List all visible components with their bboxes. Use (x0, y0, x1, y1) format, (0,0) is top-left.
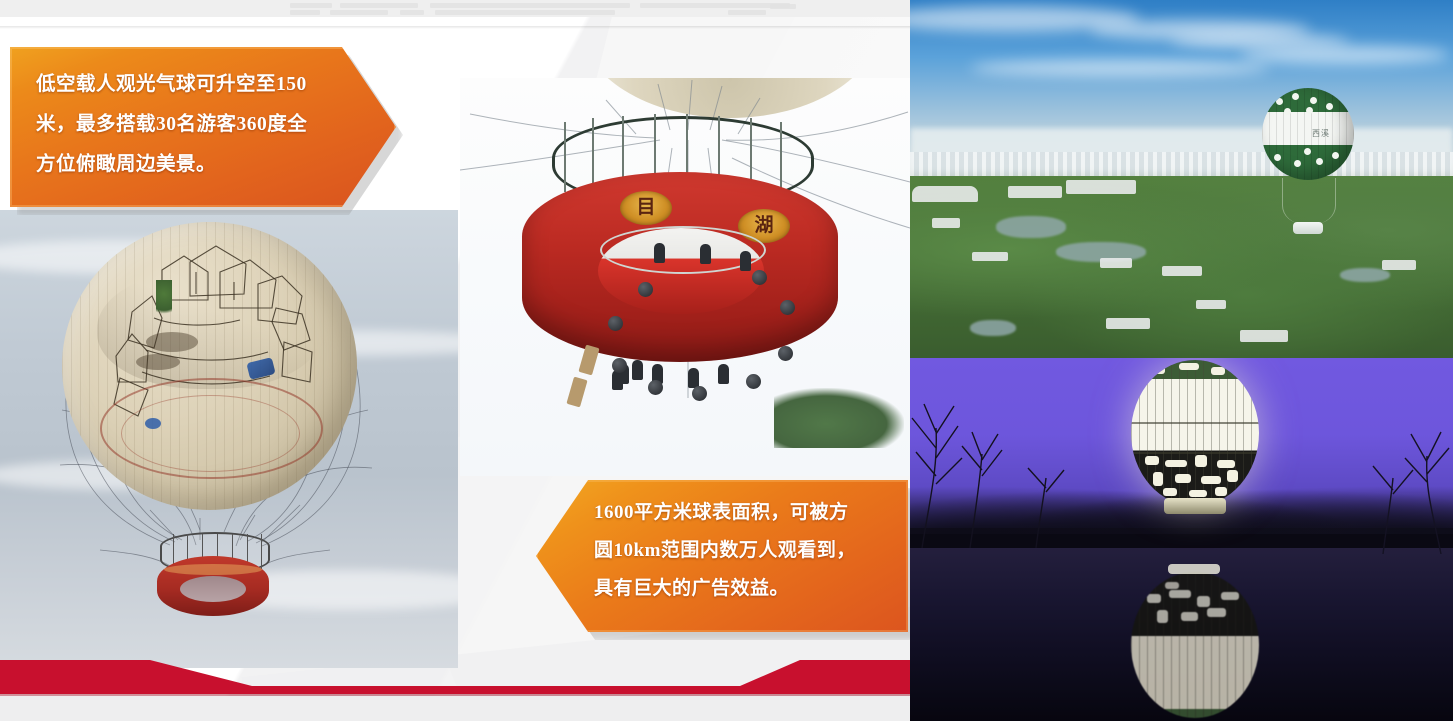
night-reflection-basket (1168, 564, 1220, 574)
aerial-balloon-gondola (1293, 222, 1323, 234)
slide-root: 目 湖 (0, 0, 1453, 721)
callout-line-2: 圆10km范围内数万人观看到， (536, 532, 908, 570)
night-balloon-reflection (1131, 572, 1259, 718)
callout-feature-advertising: 1600平方米球表面积，可被方 圆10km范围内数万人观看到， 具有巨大的广告效… (536, 480, 908, 632)
night-balloon (1131, 360, 1259, 506)
night-balloon-gondola (1164, 498, 1226, 514)
ghost-text-strip (0, 0, 910, 17)
page-bottom-margin (0, 696, 910, 721)
callout-line-3: 具有巨大的广告效益。 (536, 570, 908, 608)
slide-canvas: 目 湖 (0, 0, 910, 721)
aerial-balloon-text: 西溪 (1312, 128, 1330, 139)
callout-line-3: 方位俯瞰周边美景。 (10, 145, 396, 185)
footer-band-lower (0, 686, 910, 694)
gondola-badge-left: 目 (620, 191, 672, 225)
photo-balloon-daylight (0, 210, 458, 668)
balloon-gondola (152, 532, 274, 628)
photo-gondola-closeup: 目 湖 (460, 78, 910, 476)
balloon-envelope (62, 222, 357, 510)
photo-aerial-park: 西溪 (910, 0, 1453, 358)
callout-line-2: 米，最多搭载30名游客360度全 (10, 105, 396, 145)
callout-feature-altitude: 低空载人观光气球可升空至150 米，最多搭载30名游客360度全 方位俯瞰周边美… (10, 47, 396, 207)
aerial-balloon: 西溪 (1262, 88, 1354, 180)
aerial-balloon-tether (1282, 178, 1336, 224)
callout-line-1: 低空载人观光气球可升空至150 (10, 47, 396, 105)
callout-line-1: 1600平方米球表面积，可被方 (536, 480, 908, 532)
photo-night-reflection (910, 358, 1453, 721)
